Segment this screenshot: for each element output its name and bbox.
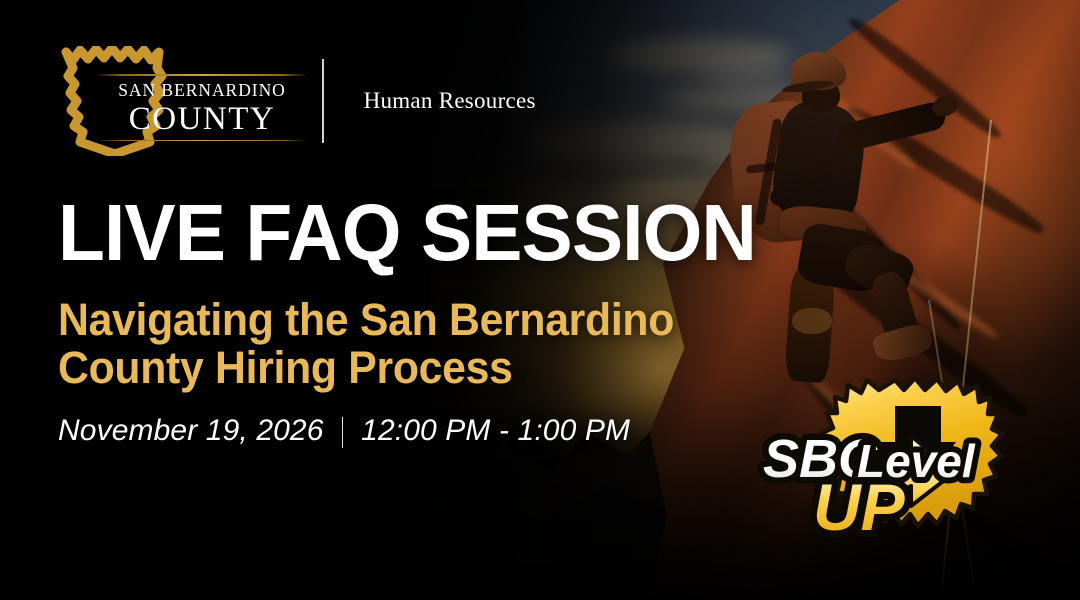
department-name: Human Resources xyxy=(364,88,536,114)
sbc-level-up-logo: SBC Level UP xyxy=(745,372,1045,562)
subtitle-line-2: County Hiring Process xyxy=(58,344,674,392)
lockup-divider xyxy=(322,59,324,143)
event-time: 12:00 PM - 1:00 PM xyxy=(361,414,630,448)
badge-text-up: UP xyxy=(813,470,906,544)
wordmark-rule-bottom xyxy=(96,140,308,142)
county-wordmark: SAN BERNARDINO COUNTY xyxy=(96,74,308,141)
banner-content: SAN BERNARDINO COUNTY Human Resources LI… xyxy=(0,0,1080,600)
sbc-level-up-graphic: SBC Level UP xyxy=(745,372,1045,562)
wordmark-line-2: COUNTY xyxy=(96,102,308,140)
page-title: LIVE FAQ SESSION xyxy=(58,196,756,270)
wordmark-line-1: SAN BERNARDINO xyxy=(96,76,308,102)
promotional-banner: SAN BERNARDINO COUNTY Human Resources LI… xyxy=(0,0,1080,600)
datetime-separator xyxy=(342,417,344,448)
san-bernardino-county-logo: SAN BERNARDINO COUNTY xyxy=(56,46,256,156)
event-datetime: November 19, 2026 12:00 PM - 1:00 PM xyxy=(58,414,630,448)
subtitle-line-1: Navigating the San Bernardino xyxy=(58,296,674,344)
page-subtitle: Navigating the San Bernardino County Hir… xyxy=(58,296,674,391)
logo-lockup: SAN BERNARDINO COUNTY Human Resources xyxy=(56,46,536,156)
event-date: November 19, 2026 xyxy=(58,414,324,448)
